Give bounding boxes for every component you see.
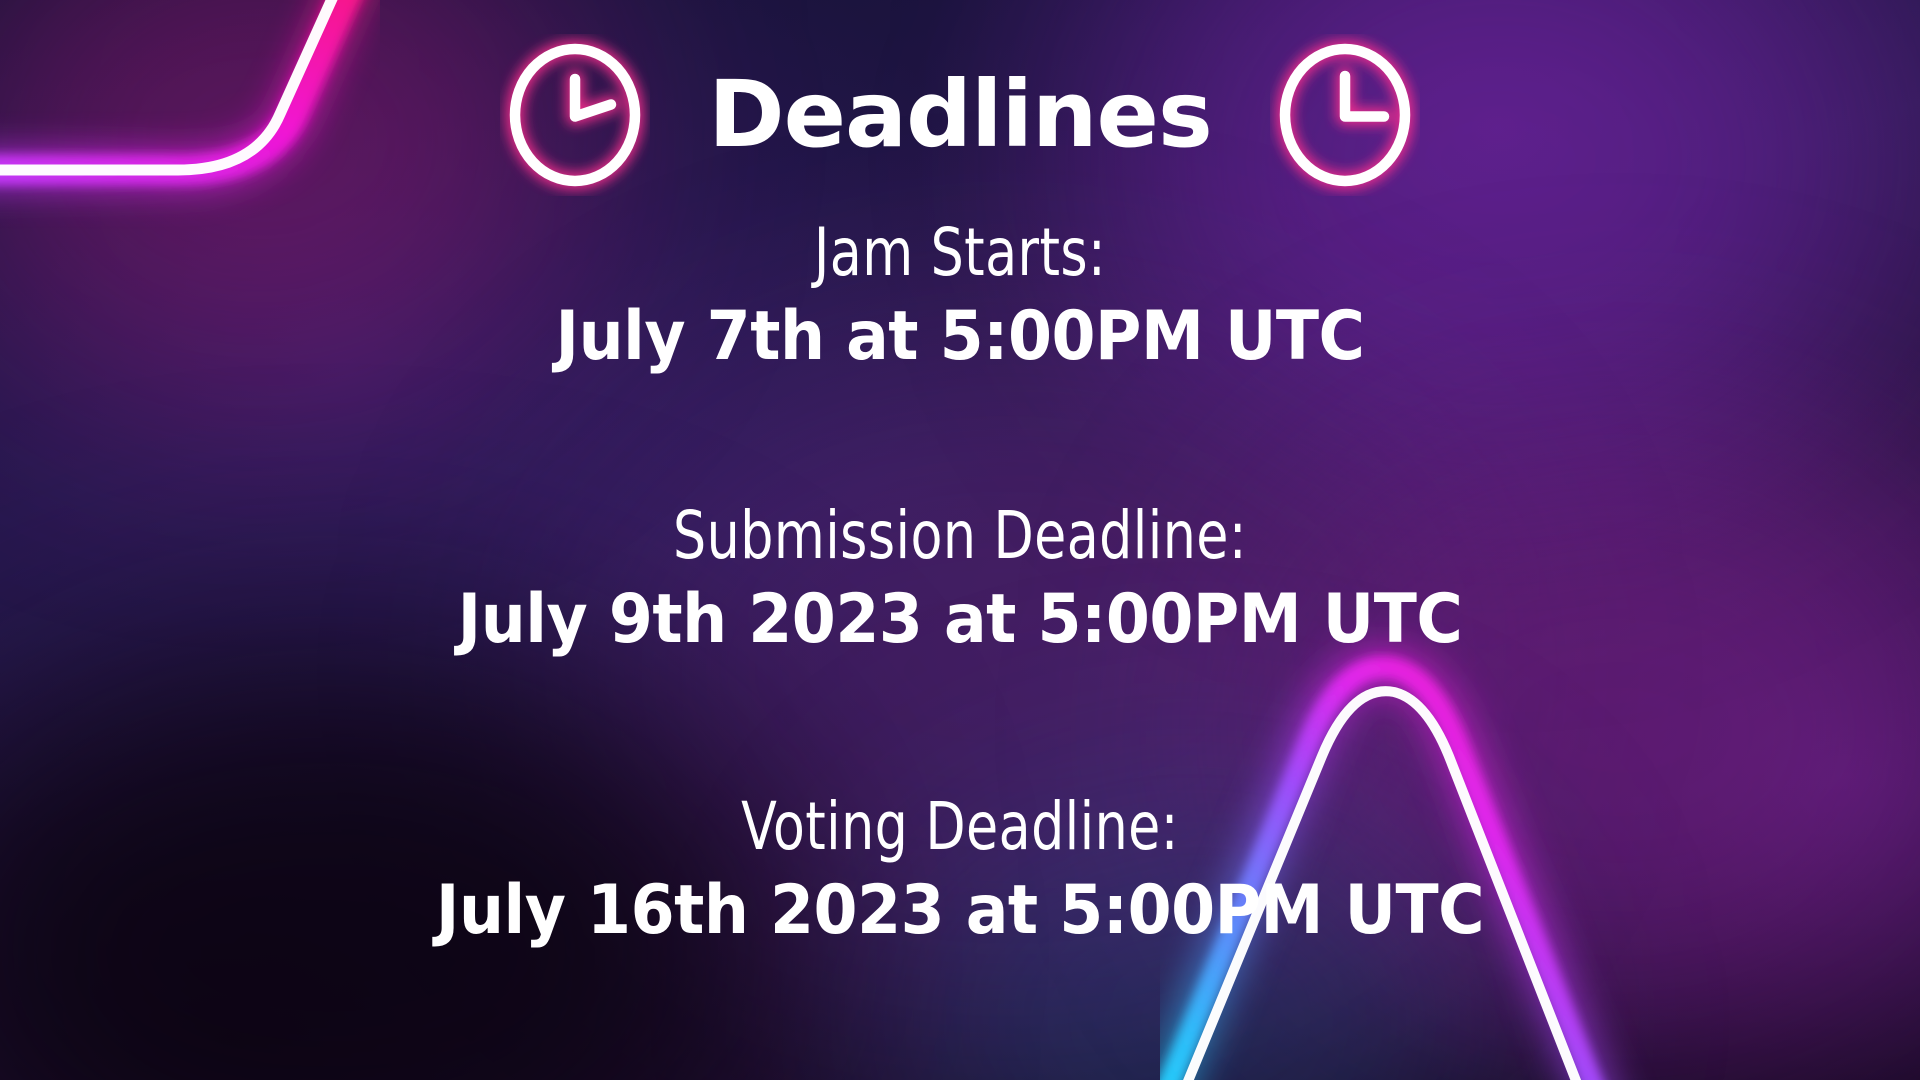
- clock-icon: [500, 34, 650, 196]
- poster-content: Deadlines Jam Starts: July 7th at 5:00PM…: [0, 0, 1920, 1080]
- deadline-label: Jam Starts:: [115, 214, 1805, 292]
- deadline-value: July 16th 2023 at 5:00PM UTC: [67, 870, 1853, 953]
- deadlines-poster: Deadlines Jam Starts: July 7th at 5:00PM…: [0, 0, 1920, 1080]
- clock-icon: [1270, 34, 1420, 196]
- deadline-label: Voting Deadline:: [115, 788, 1805, 866]
- page-title: Deadlines: [708, 69, 1211, 161]
- deadline-block: Submission Deadline: July 9th 2023 at 5:…: [0, 497, 1920, 662]
- deadline-block: Voting Deadline: July 16th 2023 at 5:00P…: [0, 788, 1920, 953]
- deadline-label: Submission Deadline:: [115, 497, 1805, 575]
- deadline-value: July 7th at 5:00PM UTC: [67, 296, 1853, 379]
- deadline-block: Jam Starts: July 7th at 5:00PM UTC: [0, 214, 1920, 379]
- deadline-value: July 9th 2023 at 5:00PM UTC: [67, 579, 1853, 662]
- title-row: Deadlines: [500, 34, 1419, 196]
